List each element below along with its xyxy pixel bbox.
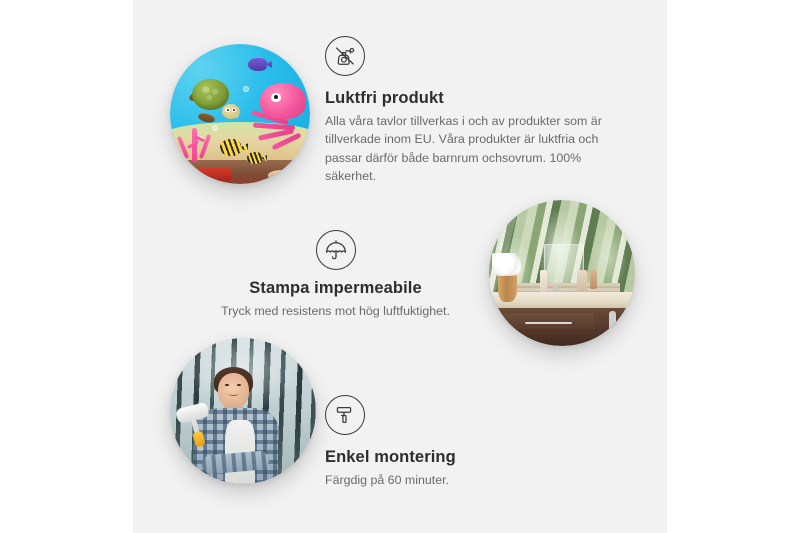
feature-description-odor-free: Alla våra tavlor tillverkas i och av pro…	[325, 112, 625, 185]
feature-image-easy-mounting	[170, 338, 316, 484]
bubble-icon	[243, 86, 249, 92]
underwater-scene-illustration	[170, 44, 310, 184]
feature-block-waterproof-print: Stampa impermeabile Tryck med resistens …	[203, 230, 468, 320]
turtle-eye	[232, 108, 237, 113]
roller-grip	[193, 431, 206, 448]
vanity-drawer	[503, 313, 594, 329]
purple-fish-icon	[248, 58, 266, 71]
white-flowers	[492, 253, 521, 276]
bathroom-photo	[489, 200, 635, 346]
sea-floor-strip	[170, 160, 310, 184]
octopus-illustration	[250, 83, 309, 145]
cabinet-handle	[609, 311, 616, 335]
octopus-body	[260, 83, 306, 119]
coral-illustration	[176, 125, 218, 161]
screenshot-canvas: Luktfri produkt Alla våra tavlor tillver…	[0, 0, 800, 533]
umbrella-icon	[316, 230, 356, 270]
feature-title-easy-mounting: Enkel montering	[325, 447, 575, 467]
icon-wrapper	[325, 36, 625, 76]
icon-wrapper	[325, 395, 575, 435]
sea-turtle-illustration	[185, 79, 241, 121]
octopus-eye	[271, 93, 280, 102]
feature-image-waterproof-print	[489, 200, 635, 346]
yellow-striped-fish-icon	[247, 152, 262, 165]
woman-smile	[228, 390, 238, 395]
feature-image-odor-free	[170, 44, 310, 184]
bathroom-bottle	[540, 270, 547, 293]
feature-block-easy-mounting: Enkel montering Färgdig på 60 minuter.	[325, 395, 575, 489]
feature-title-waterproof-print: Stampa impermeabile	[203, 278, 468, 298]
content-panel: Luktfri produkt Alla våra tavlor tillver…	[133, 0, 667, 533]
icon-wrapper	[203, 230, 468, 270]
feature-title-odor-free: Luktfri produkt	[325, 88, 625, 108]
turtle-head	[222, 104, 240, 119]
woman-with-roller-photo	[170, 338, 316, 484]
feature-block-odor-free: Luktfri produkt Alla våra tavlor tillver…	[325, 36, 625, 185]
yellow-striped-fish-icon	[220, 139, 241, 156]
turtle-eye	[225, 108, 230, 113]
bathroom-bottle	[590, 270, 597, 289]
paint-roller-icon	[325, 395, 365, 435]
feature-description-easy-mounting: Färgdig på 60 minuter.	[325, 471, 575, 489]
wood-vanity-cabinet	[498, 308, 635, 346]
no-fragrance-icon	[325, 36, 365, 76]
feature-description-waterproof-print: Tryck med resistens mot hög luftfuktighe…	[203, 302, 468, 320]
